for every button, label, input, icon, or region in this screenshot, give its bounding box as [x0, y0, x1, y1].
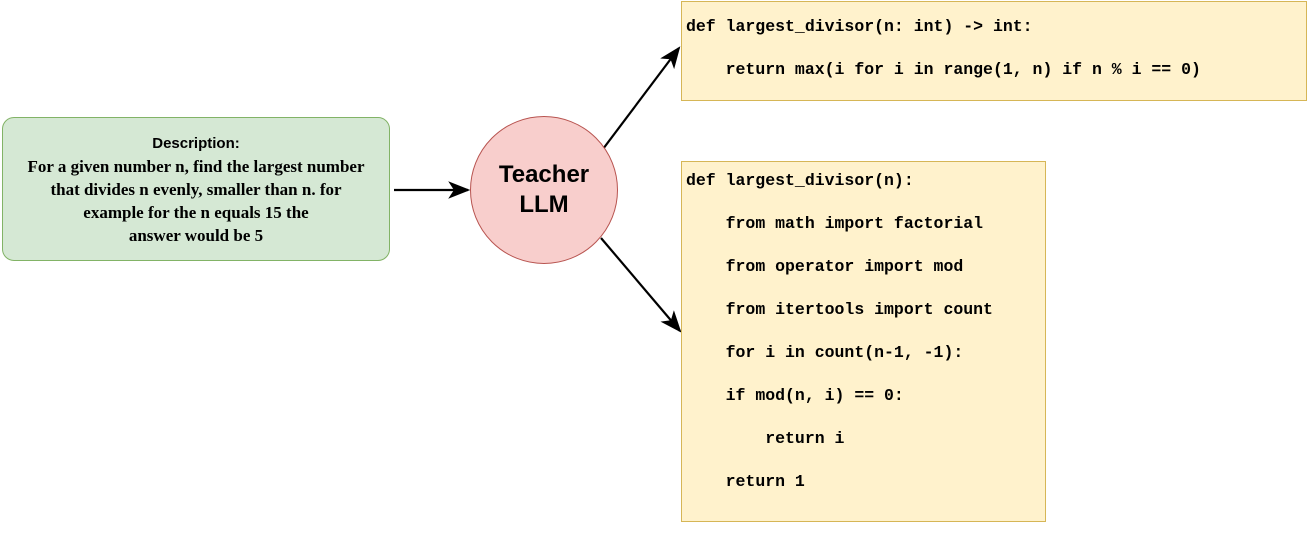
description-text: For a given number n, find the largest n… [9, 155, 383, 247]
code-bottom-line-5: for i in count(n-1, -1): [686, 342, 1041, 363]
description-node[interactable]: Description: For a given number n, find … [2, 117, 390, 261]
description-line-4: answer would be 5 [9, 224, 383, 247]
teacher-llm-line-2: LLM [499, 190, 589, 220]
teacher-llm-node[interactable]: Teacher LLM [470, 116, 618, 264]
code-bottom-line-3: from operator import mod [686, 256, 1041, 277]
code-bottom-line-6: if mod(n, i) == 0: [686, 385, 1041, 406]
description-line-3: example for the n equals 15 the [9, 201, 383, 224]
description-line-2: that divides n evenly, smaller than n. f… [9, 178, 383, 201]
code-bottom-line-4: from itertools import count [686, 299, 1041, 320]
code-top-line-1: def largest_divisor(n: int) -> int: [686, 16, 1302, 37]
code-block-bottom[interactable]: def largest_divisor(n): from math import… [681, 161, 1046, 522]
description-title: Description: [152, 132, 240, 155]
diagram-canvas: Description: For a given number n, find … [0, 0, 1308, 536]
code-bottom-line-1: def largest_divisor(n): [686, 170, 1041, 191]
code-bottom-line-2: from math import factorial [686, 213, 1041, 234]
arrow-llm-to-bottom-code [601, 238, 680, 331]
teacher-llm-line-1: Teacher [499, 160, 589, 190]
teacher-llm-label: Teacher LLM [499, 160, 589, 220]
code-block-top[interactable]: def largest_divisor(n: int) -> int: retu… [681, 1, 1307, 101]
arrow-llm-to-top-code [600, 48, 679, 153]
description-line-1: For a given number n, find the largest n… [9, 155, 383, 178]
code-bottom-line-7: return i [686, 428, 1041, 449]
code-top-line-2: return max(i for i in range(1, n) if n %… [686, 59, 1302, 80]
code-bottom-line-8: return 1 [686, 471, 1041, 492]
